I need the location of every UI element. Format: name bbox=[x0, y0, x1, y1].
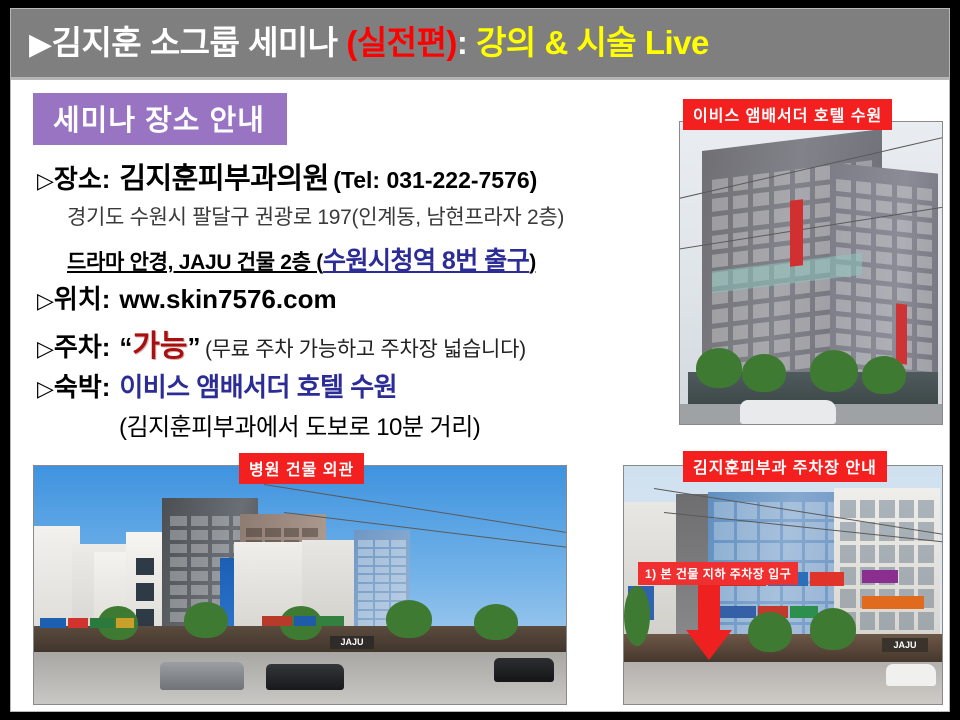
street-tree bbox=[748, 612, 792, 652]
parking-note: (무료 주차 가능하고 주차장 넓습니다) bbox=[205, 338, 526, 361]
lodging-hotel-name: 이비스 앰배서더 호텔 수원 bbox=[119, 372, 397, 402]
street-tree bbox=[862, 356, 906, 394]
red-arrow-head-icon bbox=[686, 630, 732, 660]
lodging-distance: (김지훈피부과에서 도보로 10분 거리) bbox=[119, 414, 480, 441]
title-colon: : bbox=[457, 24, 468, 61]
annotation-parking-entrance: 1) 본 건물 지하 주차장 입구 bbox=[638, 562, 798, 585]
title-divider bbox=[11, 77, 950, 80]
place-phone: (Tel: 031-222-7576) bbox=[333, 167, 537, 193]
title-part-practical: (실전편) bbox=[346, 24, 457, 61]
place-address: 경기도 수원시 팔달구 권광로 197(인계동, 남현프라자 2층) bbox=[67, 206, 564, 229]
place-subway-exit: 수원시청역 8번 출구 bbox=[323, 247, 529, 275]
parking-quote-open: “ bbox=[119, 332, 132, 362]
bullet-triangle-icon: ▷ bbox=[37, 168, 54, 193]
street-tree bbox=[184, 602, 228, 638]
info-row-parking: ▷주차: “가능” (무료 주차 가능하고 주차장 넓습니다) bbox=[37, 321, 526, 365]
street-tree bbox=[742, 354, 786, 392]
street-tree bbox=[624, 586, 650, 646]
caption-parking-photo: 김지훈피부과 주차장 안내 bbox=[683, 451, 887, 482]
title-part-live: 강의 & 시술 Live bbox=[476, 24, 709, 61]
street-tree bbox=[696, 348, 742, 388]
place-label: 장소: bbox=[54, 164, 111, 194]
title-part-main: 김지훈 소그룹 세미나 bbox=[52, 24, 338, 61]
photo-hotel-exterior bbox=[679, 121, 943, 425]
bullet-triangle-icon: ▷ bbox=[37, 376, 54, 401]
info-row-address: 경기도 수원시 팔달구 권광로 197(인계동, 남현프라자 2층) bbox=[67, 201, 564, 231]
slide-canvas: ▶김지훈 소그룹 세미나 (실전편): 강의 & 시술 Live 세미나 장소 … bbox=[10, 8, 950, 712]
car-on-street bbox=[160, 662, 244, 690]
site-url[interactable]: ww.skin7576.com bbox=[119, 284, 336, 314]
shop-signboards bbox=[40, 618, 134, 628]
parked-van bbox=[740, 400, 836, 424]
caption-clinic-photo: 병원 건물 외관 bbox=[239, 453, 364, 484]
parking-label: 주차: bbox=[54, 332, 111, 362]
storefront-sign-jaju: JAJU bbox=[882, 638, 928, 652]
street-tree bbox=[474, 604, 518, 640]
car-on-street bbox=[266, 664, 344, 690]
info-row-landmark: 드라마 안경, JAJU 건물 2층 (수원시청역 8번 출구) bbox=[67, 241, 536, 277]
shop-signboards-right-lower bbox=[862, 596, 924, 609]
hotel-red-signage-stripe bbox=[790, 199, 803, 267]
bullet-triangle-icon: ▷ bbox=[37, 288, 54, 313]
page-title: ▶김지훈 소그룹 세미나 (실전편): 강의 & 시술 Live bbox=[29, 15, 929, 73]
photo-clinic-exterior: JAJU bbox=[33, 465, 567, 705]
shop-signboards bbox=[262, 616, 344, 626]
street-tree bbox=[810, 350, 858, 392]
play-triangle-icon: ▶ bbox=[29, 28, 52, 61]
parking-quote-close: ” bbox=[188, 332, 201, 362]
car-on-street bbox=[494, 658, 554, 682]
section-header-venue: 세미나 장소 안내 bbox=[33, 93, 287, 145]
white-car bbox=[886, 664, 936, 686]
street-tree bbox=[386, 600, 432, 638]
storefront-sign-jaju: JAJU bbox=[330, 636, 374, 649]
info-row-lodging: ▷숙박: 이비스 앰배서더 호텔 수원 bbox=[37, 367, 397, 404]
slide-title-bar: ▶김지훈 소그룹 세미나 (실전편): 강의 & 시술 Live bbox=[11, 9, 950, 77]
hotel-red-signage-stripe-lower bbox=[896, 303, 907, 364]
info-row-website: ▷위치: ww.skin7576.com bbox=[37, 279, 337, 316]
parking-availability: 가능 bbox=[132, 330, 187, 363]
photo-parking-entrance: JAJU 1) 본 건물 지하 주차장 입구 bbox=[623, 465, 943, 705]
info-row-place: ▷장소: 김지훈피부과의원 (Tel: 031-222-7576) bbox=[37, 155, 537, 197]
caption-hotel-photo: 이비스 앰배서더 호텔 수원 bbox=[683, 99, 892, 130]
place-landmark: 드라마 안경, JAJU 건물 2층 ( bbox=[67, 251, 323, 274]
place-landmark-close: ) bbox=[529, 251, 536, 274]
site-label: 위치: bbox=[54, 284, 111, 314]
lodging-label: 숙박: bbox=[54, 372, 111, 402]
street-tree bbox=[810, 608, 856, 650]
shop-signboards-right bbox=[862, 570, 898, 583]
red-arrow-stem bbox=[698, 584, 720, 634]
info-row-lodging-distance: (김지훈피부과에서 도보로 10분 거리) bbox=[119, 407, 480, 442]
place-clinic-name: 김지훈피부과의원 bbox=[119, 163, 328, 195]
bullet-triangle-icon: ▷ bbox=[37, 336, 54, 361]
